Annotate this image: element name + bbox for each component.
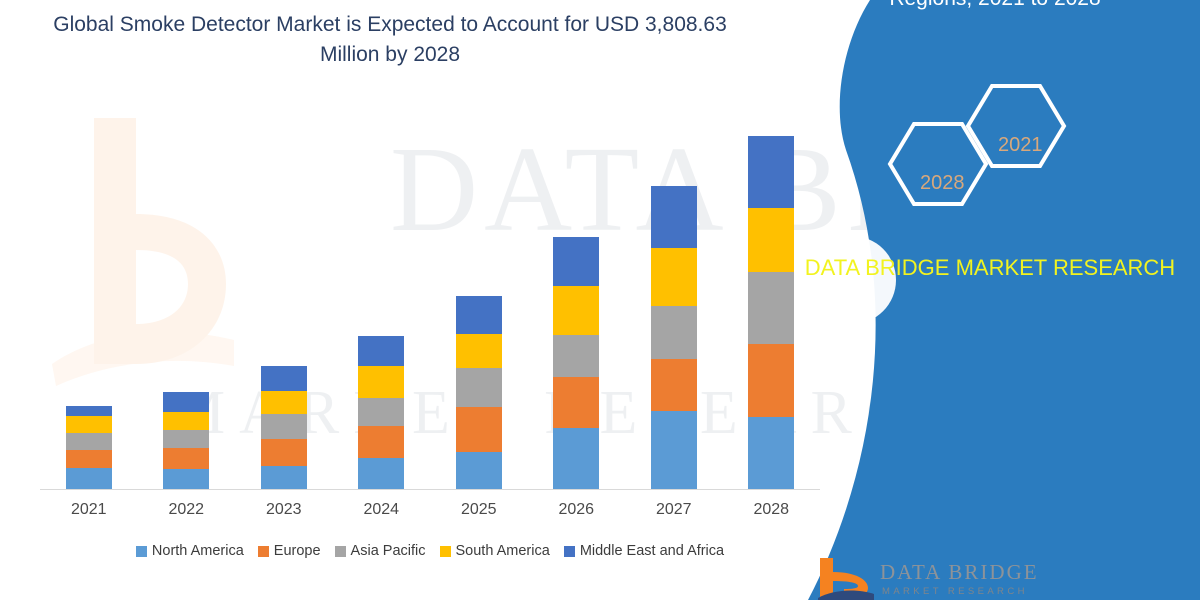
- chart-legend: North AmericaEuropeAsia PacificSouth Ame…: [40, 538, 820, 564]
- bar-segment-europe[interactable]: [651, 359, 697, 411]
- bar-segment-south-america[interactable]: [261, 391, 307, 414]
- bar-segment-asia-pacific[interactable]: [651, 306, 697, 359]
- footer-logo-subtitle: MARKET RESEARCH: [882, 586, 1028, 597]
- hexagon-outline-icon: [880, 80, 1110, 210]
- stacked-bar[interactable]: [456, 296, 502, 489]
- right-panel: Regions, 2021 to 2028 2021 2028 DATA BRI…: [780, 0, 1200, 600]
- bar-segment-north-america[interactable]: [66, 468, 112, 489]
- legend-item-europe[interactable]: Europe: [258, 543, 321, 559]
- legend-swatch-icon: [258, 546, 269, 557]
- panel-heading: Regions, 2021 to 2028: [810, 0, 1180, 14]
- stacked-bar[interactable]: [66, 406, 112, 489]
- footer-logo-name: DATA BRIDGE: [880, 560, 1039, 585]
- x-axis-tick-2027: 2027: [629, 501, 719, 519]
- legend-item-south-america[interactable]: South America: [440, 543, 550, 559]
- bar-segment-north-america[interactable]: [553, 428, 599, 489]
- x-axis-line: [40, 489, 820, 490]
- infographic-canvas: DATA BRIDGE MARKET RESEARCH Global Smoke…: [0, 0, 1200, 600]
- bar-group-2024: [336, 100, 426, 489]
- hexagon-badges: 2021 2028: [880, 80, 1110, 210]
- chart-title: Global Smoke Detector Market is Expected…: [40, 10, 740, 70]
- legend-label: Europe: [274, 543, 321, 559]
- bar-group-2021: [44, 100, 134, 489]
- bar-segment-europe[interactable]: [358, 426, 404, 458]
- stacked-bar[interactable]: [651, 186, 697, 489]
- bar-segment-south-america[interactable]: [358, 366, 404, 398]
- bar-segment-europe[interactable]: [163, 448, 209, 469]
- bar-segment-europe[interactable]: [456, 407, 502, 452]
- stacked-bar[interactable]: [358, 336, 404, 489]
- x-axis-labels: 20212022202320242025202620272028: [40, 495, 820, 525]
- bar-group-2022: [141, 100, 231, 489]
- bar-segment-north-america[interactable]: [163, 469, 209, 489]
- legend-label: Asia Pacific: [351, 543, 426, 559]
- bar-series-container: [40, 100, 820, 489]
- x-axis-tick-2023: 2023: [239, 501, 329, 519]
- bar-segment-middle-east-and-africa[interactable]: [261, 366, 307, 391]
- bar-segment-asia-pacific[interactable]: [261, 414, 307, 439]
- bar-segment-middle-east-and-africa[interactable]: [651, 186, 697, 248]
- legend-swatch-icon: [564, 546, 575, 557]
- legend-swatch-icon: [335, 546, 346, 557]
- bar-segment-south-america[interactable]: [456, 334, 502, 368]
- x-axis-tick-2021: 2021: [44, 501, 134, 519]
- bar-segment-asia-pacific[interactable]: [358, 398, 404, 426]
- hexagon-label-upper: 2021: [998, 134, 1043, 157]
- bar-segment-middle-east-and-africa[interactable]: [553, 237, 599, 286]
- bar-segment-middle-east-and-africa[interactable]: [163, 392, 209, 412]
- stacked-bar[interactable]: [553, 237, 599, 489]
- bar-segment-middle-east-and-africa[interactable]: [358, 336, 404, 366]
- footer-logo: DATA BRIDGE MARKET RESEARCH: [818, 556, 1068, 600]
- bar-segment-south-america[interactable]: [651, 248, 697, 306]
- bar-segment-north-america[interactable]: [456, 452, 502, 489]
- bar-group-2025: [434, 100, 524, 489]
- x-axis-tick-2024: 2024: [336, 501, 426, 519]
- stacked-bar[interactable]: [261, 366, 307, 489]
- bar-segment-south-america[interactable]: [553, 286, 599, 335]
- bar-segment-middle-east-and-africa[interactable]: [66, 406, 112, 416]
- legend-swatch-icon: [440, 546, 451, 557]
- footer-logo-icon: [818, 556, 874, 600]
- x-axis-tick-2025: 2025: [434, 501, 524, 519]
- bar-segment-asia-pacific[interactable]: [553, 335, 599, 377]
- legend-item-north-america[interactable]: North America: [136, 543, 244, 559]
- bar-segment-south-america[interactable]: [163, 412, 209, 430]
- bar-group-2023: [239, 100, 329, 489]
- bar-segment-middle-east-and-africa[interactable]: [456, 296, 502, 334]
- legend-label: Middle East and Africa: [580, 543, 724, 559]
- bar-group-2026: [531, 100, 621, 489]
- bar-segment-asia-pacific[interactable]: [66, 433, 112, 450]
- bar-segment-south-america[interactable]: [66, 416, 112, 433]
- bar-segment-europe[interactable]: [261, 439, 307, 466]
- stacked-bar[interactable]: [163, 392, 209, 489]
- brand-title: DATA BRIDGE MARKET RESEARCH: [800, 252, 1180, 284]
- bar-segment-asia-pacific[interactable]: [456, 368, 502, 407]
- legend-label: North America: [152, 543, 244, 559]
- legend-swatch-icon: [136, 546, 147, 557]
- bar-segment-europe[interactable]: [553, 377, 599, 428]
- legend-label: South America: [456, 543, 550, 559]
- bar-segment-north-america[interactable]: [358, 458, 404, 489]
- x-axis-tick-2022: 2022: [141, 501, 231, 519]
- bar-segment-asia-pacific[interactable]: [163, 430, 209, 448]
- plot-area: [40, 100, 820, 490]
- legend-item-asia-pacific[interactable]: Asia Pacific: [335, 543, 426, 559]
- bar-group-2027: [629, 100, 719, 489]
- hexagon-label-lower: 2028: [920, 172, 965, 195]
- bar-segment-europe[interactable]: [66, 450, 112, 468]
- x-axis-tick-2026: 2026: [531, 501, 621, 519]
- bar-segment-north-america[interactable]: [651, 411, 697, 489]
- legend-item-middle-east-and-africa[interactable]: Middle East and Africa: [564, 543, 724, 559]
- bar-segment-north-america[interactable]: [261, 466, 307, 489]
